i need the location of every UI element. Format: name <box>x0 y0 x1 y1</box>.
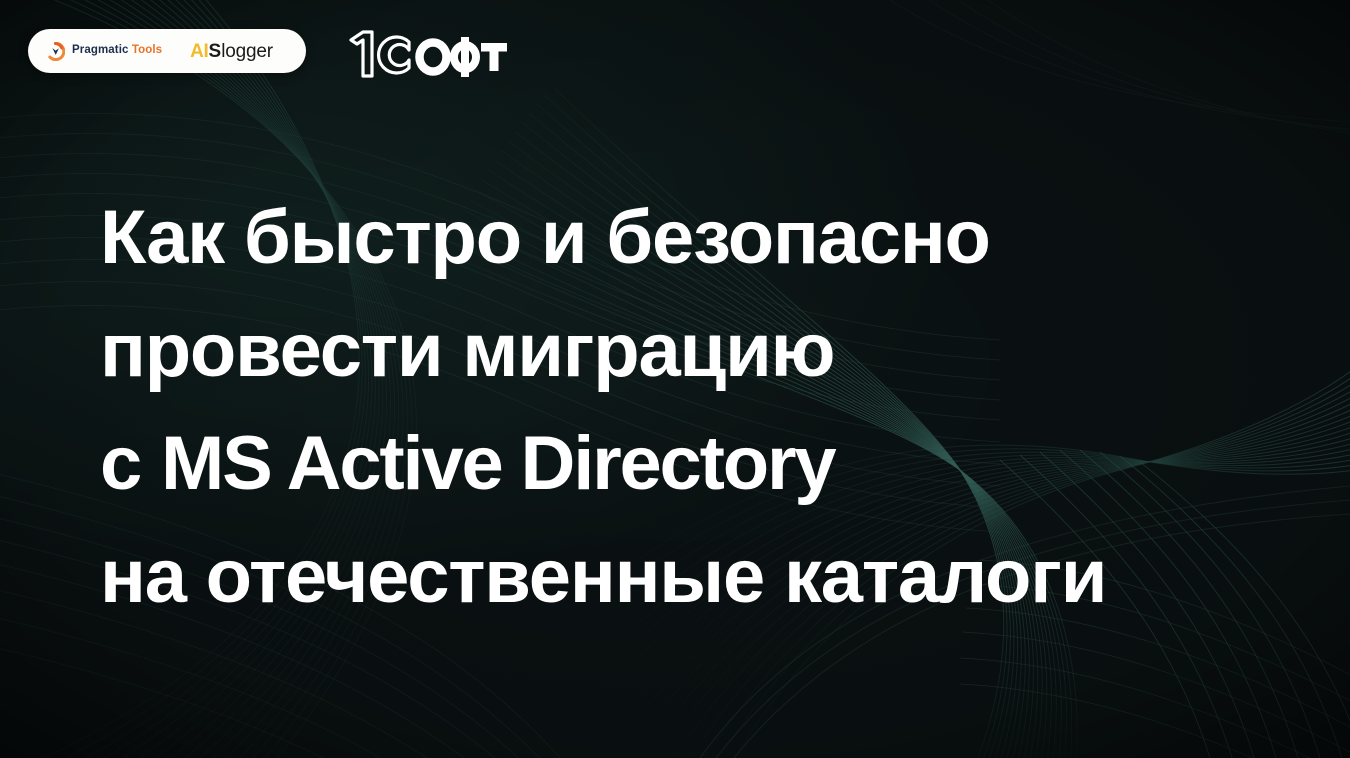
slide-headline: Как быстро и безопасно провести миграцию… <box>100 181 1280 633</box>
aislogger-logo: AISlogger <box>190 42 273 61</box>
pragmatic-word: Pragmatic <box>72 44 129 56</box>
headline-line-2: провести миграцию <box>100 294 1280 407</box>
pragmatic-tools-circular-arrow-icon <box>46 42 65 61</box>
headline-line-3-product: MS Active Directory <box>161 421 834 506</box>
1c-soft-logo <box>347 27 507 81</box>
presentation-slide: Pragmatic Tools AISlogger Как быстро и б… <box>0 0 1350 758</box>
aislogger-logger-part: logger <box>221 41 273 62</box>
pragmatic-tools-wordmark: Pragmatic Tools <box>72 45 162 57</box>
tools-word: Tools <box>132 44 162 56</box>
headline-line-3-prefix: с <box>100 421 161 506</box>
aislogger-ai-part: AI <box>190 41 208 62</box>
partner-logos-badge: Pragmatic Tools AISlogger <box>28 29 306 73</box>
headline-line-4: на отечественные каталоги <box>100 520 1280 633</box>
headline-line-1: Как быстро и безопасно <box>100 181 1280 294</box>
headline-line-3: с MS Active Directory <box>100 407 1280 520</box>
aislogger-s-part: S <box>209 41 222 62</box>
pragmatic-tools-logo: Pragmatic Tools <box>46 42 162 61</box>
